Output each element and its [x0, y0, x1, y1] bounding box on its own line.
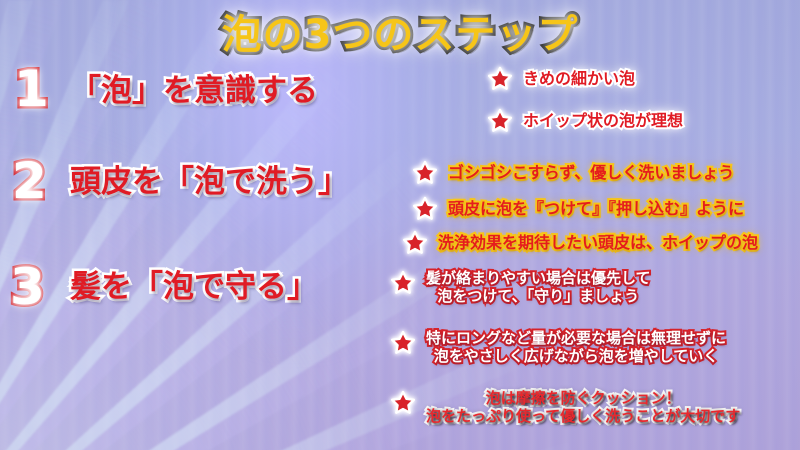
bullet-text-block: 泡は摩擦を防ぐクッション！ 泡をたっぷり使って優しく洗うことが大切です — [426, 390, 740, 425]
slide-canvas: 泡の3つのステップ 1 「泡」を意識する きめの細かい泡 ホイップ状の泡が理想 … — [0, 0, 800, 450]
page-title: 泡の3つのステップ — [0, 2, 800, 60]
bullet-item: 髪が絡まりやすい場合は優先して 泡をつけて、「守り」ましょう — [390, 270, 651, 305]
star-icon — [487, 66, 513, 92]
star-icon — [412, 196, 438, 222]
bullet-text-block: 特にロングなど量が必要な場合は無理せずに 泡をやさしく広げながら泡を増やしていく — [426, 330, 726, 365]
star-icon — [402, 230, 428, 256]
bullet-text-block: 髪が絡まりやすい場合は優先して 泡をつけて、「守り」ましょう — [426, 270, 651, 305]
bullet-item: 洗浄効果を期待したい頭皮は、ホイップの泡 — [402, 230, 758, 256]
star-icon — [390, 330, 416, 356]
bullet-text: きめの細かい泡 — [523, 70, 635, 89]
bullet-text: 洗浄効果を期待したい頭皮は、ホイップの泡 — [438, 234, 758, 253]
star-icon — [390, 270, 416, 296]
bullet-text: ゴシゴシこすらず、優しく洗いましょう — [448, 164, 734, 183]
star-icon — [390, 390, 416, 416]
step-heading-1: 「泡」を意識する — [70, 76, 318, 107]
star-icon — [487, 108, 513, 134]
bullet-text-line: 特にロングなど量が必要な場合は無理せずに — [426, 330, 726, 348]
bullet-text-line: 泡をたっぷり使って優しく洗うことが大切です — [426, 408, 740, 426]
bullet-item: 泡は摩擦を防ぐクッション！ 泡をたっぷり使って優しく洗うことが大切です — [390, 390, 740, 425]
bullet-text-line: 髪が絡まりやすい場合は優先して — [426, 270, 651, 288]
bullet-text: 頭皮に泡を『つけて』『押し込む』ように — [448, 200, 744, 219]
bullet-text-line: 泡をやさしく広げながら泡を増やしていく — [426, 348, 726, 366]
bullet-item: ゴシゴシこすらず、優しく洗いましょう — [412, 160, 734, 186]
step-heading-3: 髪を「泡で守る」 — [70, 272, 318, 303]
bullet-text-line: 泡をつけて、「守り」ましょう — [426, 288, 651, 306]
bullet-text: ホイップ状の泡が理想 — [523, 112, 683, 131]
bullet-item: きめの細かい泡 — [487, 66, 635, 92]
step-number-3: 3 — [10, 262, 45, 312]
bullet-item: ホイップ状の泡が理想 — [487, 108, 683, 134]
bullet-item: 頭皮に泡を『つけて』『押し込む』ように — [412, 196, 744, 222]
step-heading-2: 頭皮を「泡で洗う」 — [70, 167, 349, 198]
step-number-1: 1 — [14, 64, 49, 114]
step-number-2: 2 — [12, 156, 47, 206]
star-icon — [412, 160, 438, 186]
bullet-item: 特にロングなど量が必要な場合は無理せずに 泡をやさしく広げながら泡を増やしていく — [390, 330, 726, 365]
bullet-text-line: 泡は摩擦を防ぐクッション！ — [426, 390, 740, 408]
